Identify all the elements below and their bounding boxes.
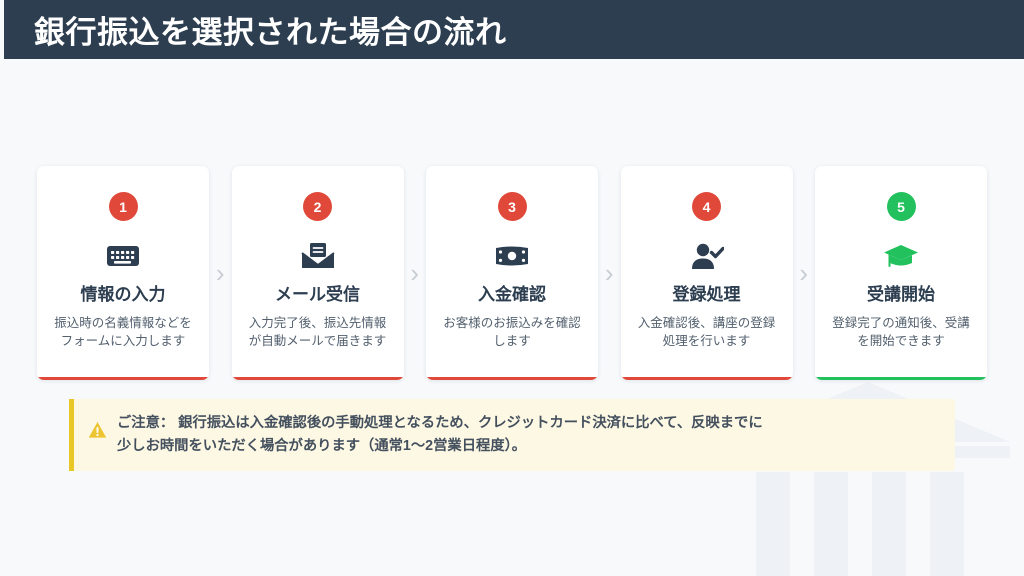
step-description-1: 振込時の名義情報などをフォームに入力します [47,314,199,350]
step-title-4: 登録処理 [673,286,741,305]
notice-line-2: 少しお時間をいただく場合があります（通常1〜2営業日程度）。 [117,435,763,458]
step-badge-4: 4 [692,192,721,221]
step-badge-5: 5 [887,192,916,221]
step-accent-5 [815,377,987,380]
page-title: 銀行振込を選択された場合の流れ [34,7,507,52]
step-description-3: お客様のお振込みを確認します [436,314,588,350]
chevron-right-icon-4: › [793,260,815,286]
step-card-4: 4 登録処理 入金確認後、講座の登録処理を行います [621,166,793,380]
step-title-2: メール受信 [275,286,360,305]
step-card-5: 5 受講開始 登録完了の通知後、受講を開始できます [815,166,987,380]
warning-triangle-icon [88,421,107,439]
step-accent-1 [37,377,209,380]
step-description-2: 入力完了後、振込先情報が自動メールで届きます [242,314,394,350]
step-description-5: 登録完了の通知後、受講を開始できます [825,314,977,350]
banknote-icon [495,239,529,273]
slide-root: 銀行振込を選択された場合の流れ 1 [0,0,1024,576]
chevron-right-icon-1: › [209,260,231,286]
step-badge-1: 1 [109,192,138,221]
keyboard-icon [106,239,140,273]
notice-box: ご注意： 銀行振込は入金確認後の手動処理となるため、クレジットカード決済に比べて… [69,399,955,471]
step-description-4: 入金確認後、講座の登録処理を行います [631,314,783,350]
chevron-right-icon-2: › [404,260,426,286]
step-accent-3 [426,377,598,380]
step-accent-2 [232,377,404,380]
steps-row: 1 [37,166,987,380]
step-card-1: 1 [37,166,209,380]
header-bar: 銀行振込を選択された場合の流れ [4,0,1024,59]
step-badge-3: 3 [498,192,527,221]
graduation-cap-icon [883,239,919,273]
step-accent-4 [621,377,793,380]
step-badge-2: 2 [303,192,332,221]
step-card-3: 3 入金確認 お客様のお振込みを確認します [426,166,598,380]
step-title-5: 受講開始 [867,286,935,305]
notice-text: ご注意： 銀行振込は入金確認後の手動処理となるため、クレジットカード決済に比べて… [117,412,763,458]
user-check-icon [690,239,724,273]
step-card-2: 2 メール受信 入力完了後、振込先情報が自動メールで届きます [232,166,404,380]
step-title-3: 入金確認 [478,286,546,305]
chevron-right-icon-3: › [598,260,620,286]
notice-line-1: ご注意： 銀行振込は入金確認後の手動処理となるため、クレジットカード決済に比べて… [117,412,763,435]
step-title-1: 情報の入力 [81,286,166,305]
mail-open-document-icon [301,239,335,273]
